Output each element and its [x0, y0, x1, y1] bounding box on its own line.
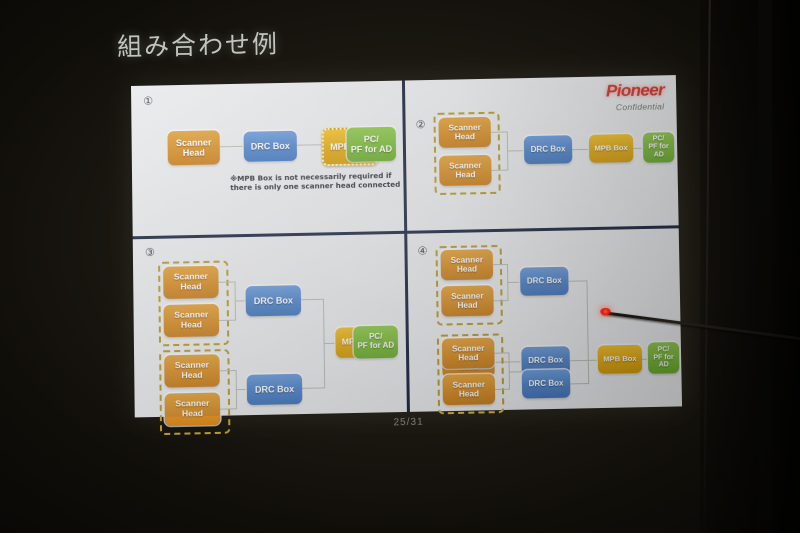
panel-3-scanner-head-4[interactable]: ScannerHead	[165, 393, 221, 426]
projected-slide-wrapper: Pioneer Confidential ① ScannerHead DRC B…	[131, 75, 682, 417]
wire-p4-bus-to-mpb	[588, 360, 598, 362]
panel-4: ④ ScannerHead ScannerHead DRC Box Scanne…	[407, 227, 682, 412]
panel-1-number: ①	[143, 95, 153, 108]
panel-3-scanner-head-3[interactable]: ScannerHead	[164, 354, 220, 387]
panel-3-pc-pf-box[interactable]: PC/PF for AD	[353, 325, 398, 358]
node-label: ScannerHead	[449, 161, 482, 180]
panel-4-drc-box-3[interactable]: DRC Box	[522, 369, 571, 398]
node-label: DRC Box	[255, 384, 294, 395]
wire-p4-merge-bus	[586, 280, 589, 384]
page-number: 25/31	[393, 417, 423, 429]
panel-4-mpb-box[interactable]: MPB Box	[598, 345, 643, 374]
wire-p4g1-to-drc	[507, 282, 520, 284]
wire-mpb-to-pc	[633, 148, 643, 150]
node-label: ScannerHead	[174, 272, 208, 292]
panel-4-drc-box-1[interactable]: DRC Box	[520, 267, 569, 296]
wire-g2-to-drc	[236, 389, 247, 391]
node-label: ScannerHead	[451, 255, 484, 274]
node-label: DRC Box	[531, 145, 566, 155]
panel-2-drc-box[interactable]: DRC Box	[524, 135, 573, 164]
panel-4-number: ④	[417, 244, 427, 257]
page-title: 組み合わせ例	[117, 24, 280, 63]
node-label: ScannerHead	[176, 137, 212, 158]
panel-4-scanner-head-2[interactable]: ScannerHead	[441, 285, 494, 316]
panel-2-scanner-head-1[interactable]: ScannerHead	[439, 117, 491, 148]
wire-p4g1-sh2-out	[493, 300, 507, 302]
panel-1-pc-pf-box[interactable]: PC/PF for AD	[347, 127, 397, 162]
node-label: MPB Box	[603, 355, 637, 364]
node-label: DRC Box	[528, 356, 563, 366]
wire-p4-drc2-out	[570, 360, 588, 362]
node-label: ScannerHead	[451, 291, 484, 310]
node-label: MPB Box	[594, 144, 628, 153]
node-label: ScannerHead	[175, 399, 209, 419]
wire-drc-to-mpb	[297, 144, 322, 146]
panel-1: ① ScannerHead DRC Box MPB Box PC/PF for …	[131, 81, 404, 237]
panel-1-scanner-head[interactable]: ScannerHead	[168, 130, 220, 165]
wire-scanner-to-drc	[220, 146, 244, 148]
panel-4-pc-pf-box[interactable]: PC/PF for AD	[648, 342, 680, 374]
panel-3-drc-box-2[interactable]: DRC Box	[247, 374, 303, 405]
wire-p4-drc1-out	[568, 280, 586, 282]
projection-scene: 組み合わせ例 Pioneer Confidential ① ScannerHea…	[0, 0, 800, 533]
wall-shadow-right	[700, 0, 800, 533]
wire-sh2-out	[491, 170, 507, 172]
node-label: DRC Box	[251, 141, 290, 152]
wire-p4-drc3-out	[570, 383, 588, 385]
slide-canvas: Pioneer Confidential ① ScannerHead DRC B…	[131, 75, 682, 417]
node-label: DRC Box	[254, 295, 293, 306]
panel-3: ③ ScannerHead ScannerHead DRC Box Scanne…	[133, 233, 407, 418]
panel-4-scanner-head-5[interactable]: ScannerHead	[443, 374, 496, 405]
wire-g2-sh1-out	[220, 370, 236, 372]
wire-p4g2-sh2-out	[495, 389, 509, 391]
wire-sh1-out	[491, 131, 507, 133]
panel-3-scanner-head-2[interactable]: ScannerHead	[164, 304, 220, 337]
panel-2-mpb-box[interactable]: MPB Box	[589, 134, 634, 163]
node-label: PC/PF for AD	[643, 135, 674, 159]
panel-3-scanner-head-1[interactable]: ScannerHead	[163, 266, 219, 299]
node-label: PC/PF for AD	[648, 346, 680, 370]
wire-p4g2-sh1-out	[494, 352, 508, 354]
panel-4-scanner-head-1[interactable]: ScannerHead	[441, 249, 494, 280]
node-label: ScannerHead	[175, 361, 209, 381]
panel-4-scanner-head-4[interactable]: ScannerHead	[442, 338, 495, 369]
wire-drc1-out	[301, 299, 323, 301]
node-label: PC/PF for AD	[351, 134, 392, 155]
panel-2-number: ②	[415, 118, 425, 131]
node-label: PC/PF for AD	[357, 333, 394, 352]
panel-2-scanner-head-2[interactable]: ScannerHead	[439, 155, 492, 186]
node-label: DRC Box	[527, 276, 562, 286]
wire-p4g2-to-drc	[509, 371, 522, 373]
node-label: DRC Box	[529, 379, 564, 389]
panel-2: ② ScannerHead ScannerHead DRC Box MPB Bo…	[405, 75, 679, 231]
wire-g1-sh1-out	[218, 281, 234, 283]
wire-drc2-out	[302, 387, 324, 389]
wire-bus-to-drc	[507, 150, 524, 152]
panel-1-drc-box[interactable]: DRC Box	[244, 131, 297, 162]
node-label: ScannerHead	[174, 311, 208, 331]
wire-g1-sh2-out	[219, 320, 235, 322]
node-label: ScannerHead	[452, 380, 485, 399]
panel-2-pc-pf-box[interactable]: PC/PF for AD	[643, 132, 675, 163]
panel-3-number: ③	[145, 246, 155, 259]
panel-1-note: ※MPB Box is not necessarily required if …	[230, 171, 400, 193]
wire-p4g1-sh1-out	[493, 264, 507, 266]
laser-pointer-dot	[600, 308, 611, 315]
wire-bus-to-mpb	[324, 343, 336, 345]
wire-g1-to-drc	[235, 300, 246, 302]
wire-g2-sh2-out	[220, 408, 236, 410]
wire-drc-to-mpb	[572, 149, 589, 151]
wall-seam-right	[758, 0, 772, 533]
panel-3-drc-box-1[interactable]: DRC Box	[246, 285, 302, 316]
node-label: ScannerHead	[452, 344, 485, 363]
node-label: ScannerHead	[448, 123, 481, 142]
